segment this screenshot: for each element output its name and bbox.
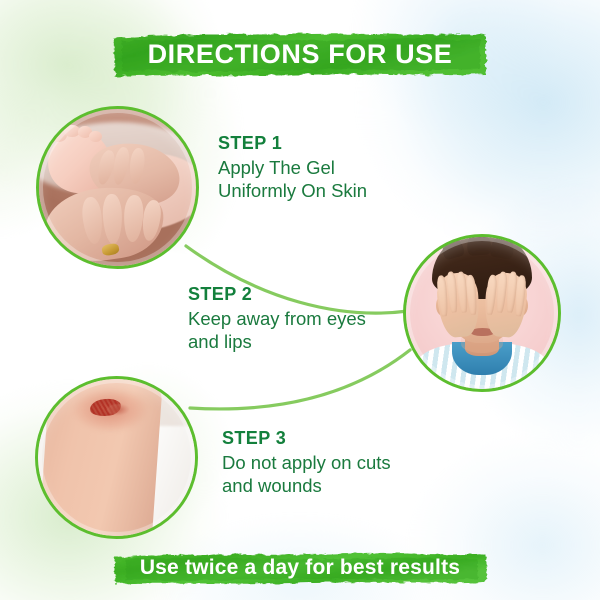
directions-for-use-infographic: DIRECTIONS FOR USE STEP 1 Apply [0,0,600,600]
step-1-line-2: Uniformly On Skin [218,179,367,203]
step-3-photo-circle [35,376,198,539]
step-2-text-block: STEP 2 Keep away from eyes and lips [188,284,366,354]
step-2-photo-circle [403,234,561,392]
step-2-line-1: Keep away from eyes [188,307,366,331]
footer-banner: Use twice a day for best results [112,550,488,586]
title-banner-label: DIRECTIONS FOR USE [148,39,453,70]
step-1-line-1: Apply The Gel [218,156,367,180]
footer-banner-label: Use twice a day for best results [140,556,460,580]
photo-chin-shadow [461,334,504,352]
step-1-text-block: STEP 1 Apply The Gel Uniformly On Skin [218,133,367,203]
step-1-title: STEP 1 [218,133,367,154]
step-3-text-block: STEP 3 Do not apply on cuts and wounds [222,428,391,498]
step-3-line-2: and wounds [222,474,391,498]
photo-hair-spike [466,237,492,256]
step-1-photo-circle [36,106,199,269]
title-banner: DIRECTIONS FOR USE [112,29,488,79]
step-2-photo [406,237,558,389]
step-3-photo [38,379,195,536]
step-2-title: STEP 2 [188,284,366,305]
step-3-line-1: Do not apply on cuts [222,451,391,475]
photo-toe [89,131,102,142]
step-1-photo [39,109,196,266]
step-3-title: STEP 3 [222,428,391,449]
step-2-line-2: and lips [188,330,366,354]
